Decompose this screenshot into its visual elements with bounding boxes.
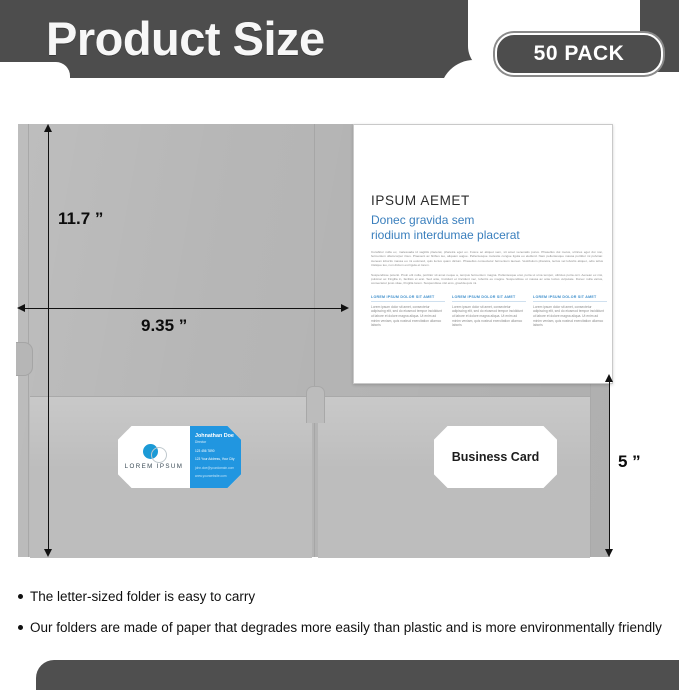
folder-center-fold	[314, 124, 315, 557]
height-arrow-top	[44, 124, 52, 132]
width-dimension-line	[25, 308, 342, 309]
pack-count-badge: 50 PACK	[495, 33, 663, 75]
document-subtitle-line1: Donec gravida sem	[371, 213, 474, 227]
feature-bullet-list: The letter-sized folder is easy to carry…	[18, 588, 668, 650]
document-paragraph-1: Curabitur nulla ex, malesuada id sagitti…	[371, 250, 603, 268]
folder-side-tab	[16, 342, 33, 376]
document-column: LOREM IPSUM DOLOR SIT AMET Lorem ipsum d…	[371, 295, 445, 328]
bullet-dot-icon	[18, 625, 23, 630]
business-card-address: 123 Your Address, Your City	[195, 457, 241, 461]
pocket-dimension-label: 5 ”	[618, 452, 641, 472]
business-card-placeholder-label: Business Card	[452, 450, 540, 464]
width-arrow-right	[341, 304, 349, 312]
business-card-email: john.doe@yourdomain.com	[195, 466, 241, 470]
business-card-sample: LOREM IPSUM Johnathan Doe Director 123 4…	[118, 426, 241, 488]
pocket-dimension-line	[609, 381, 610, 551]
document-column-heading: LOREM IPSUM DOLOR SIT AMET	[452, 295, 526, 302]
pocket-arrow-bottom	[605, 549, 613, 557]
height-dimension-label: 11.7 ”	[58, 209, 103, 229]
height-arrow-bottom	[44, 549, 52, 557]
product-size-infographic: Product Size 50 PACK IPSUM AEMET Donec g…	[0, 0, 679, 679]
folder-center-notch	[306, 386, 325, 423]
pocket-arrow-top	[605, 374, 613, 382]
document-column-heading: LOREM IPSUM DOLOR SIT AMET	[371, 295, 445, 302]
folder-illustration: IPSUM AEMET Donec gravida sem riodium in…	[18, 124, 610, 557]
document-column-body: Lorem ipsum dolor sit amet, consectetur …	[452, 305, 526, 328]
business-card-placeholder: Business Card	[434, 426, 557, 488]
width-arrow-left	[17, 304, 25, 312]
business-card-phone: 123 456 7890	[195, 449, 241, 453]
document-column-heading: LOREM IPSUM DOLOR SIT AMET	[533, 295, 607, 302]
bullet-text: The letter-sized folder is easy to carry	[30, 588, 255, 605]
document-insert: IPSUM AEMET Donec gravida sem riodium in…	[353, 124, 613, 384]
logo-circle-outline	[151, 447, 167, 463]
document-column-body: Lorem ipsum dolor sit amet, consectetur …	[371, 305, 445, 328]
footer-bar	[36, 660, 679, 690]
document-column: LOREM IPSUM DOLOR SIT AMET Lorem ipsum d…	[452, 295, 526, 328]
width-dimension-label: 9.35 ”	[141, 316, 187, 336]
business-card-person-role: Director	[195, 440, 241, 444]
document-title: IPSUM AEMET	[371, 193, 602, 208]
business-card-person-name: Johnathan Doe	[195, 433, 241, 439]
document-content: IPSUM AEMET Donec gravida sem riodium in…	[371, 193, 602, 328]
page-title: Product Size	[46, 10, 325, 68]
folder-spine-line-outer	[28, 124, 29, 557]
height-dimension-line	[48, 131, 49, 551]
business-card-logo-icon	[141, 444, 167, 461]
bullet-text: Our folders are made of paper that degra…	[30, 619, 662, 636]
document-subtitle-line2: riodium interdumae placerat	[371, 228, 520, 242]
list-item: The letter-sized folder is easy to carry	[18, 588, 668, 605]
business-card-details-panel: Johnathan Doe Director 123 456 7890 123 …	[190, 426, 241, 488]
bullet-dot-icon	[18, 594, 23, 599]
business-card-brand: LOREM IPSUM	[125, 463, 184, 470]
business-card-website: www.yourwebsite.com	[195, 474, 241, 478]
document-column: LOREM IPSUM DOLOR SIT AMET Lorem ipsum d…	[533, 295, 607, 328]
list-item: Our folders are made of paper that degra…	[18, 619, 668, 636]
document-column-body: Lorem ipsum dolor sit amet, consectetur …	[533, 305, 607, 328]
document-columns: LOREM IPSUM DOLOR SIT AMET Lorem ipsum d…	[371, 295, 607, 328]
pack-count-label: 50 PACK	[534, 42, 625, 66]
document-subtitle: Donec gravida sem riodium interdumae pla…	[371, 213, 551, 242]
document-paragraph-2: Suspendisse potenti. Proin elit nulla, p…	[371, 273, 603, 286]
business-card-front: LOREM IPSUM	[118, 426, 190, 488]
